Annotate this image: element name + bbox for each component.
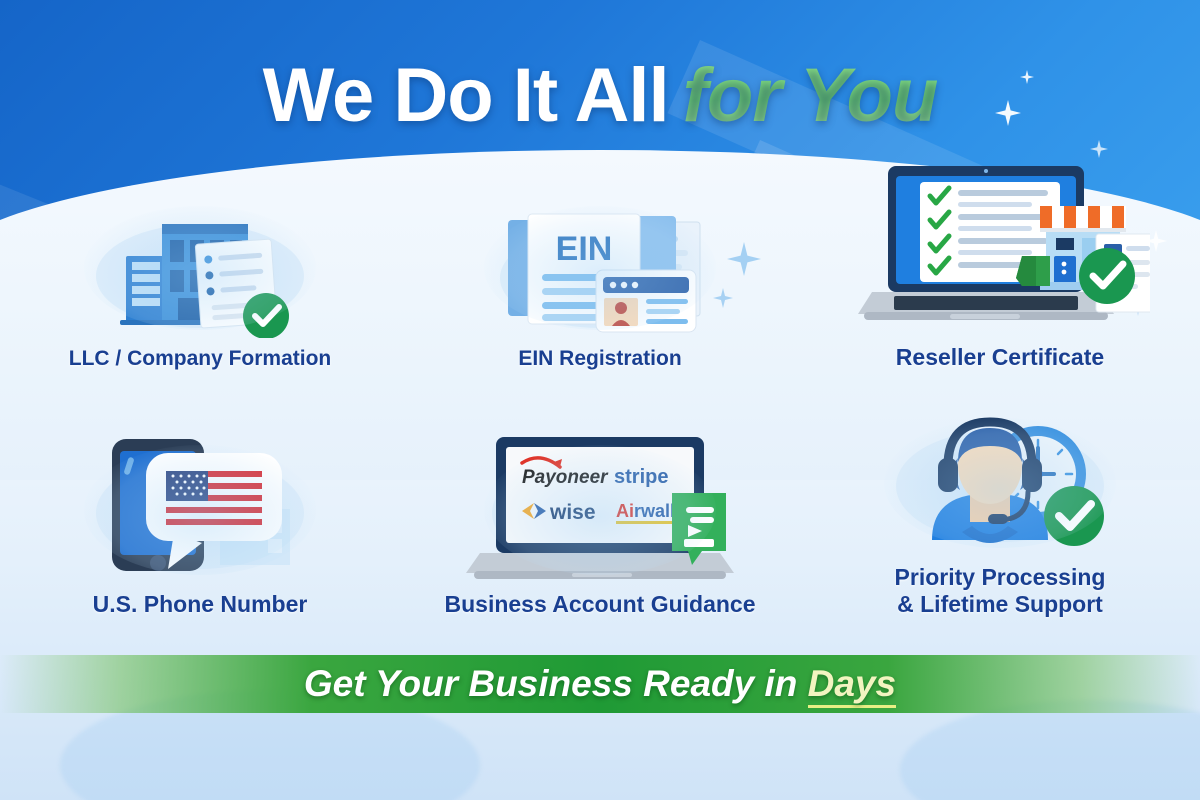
feature-label: Business Account Guidance	[445, 591, 756, 619]
icon-halo	[84, 206, 316, 330]
cta-text-before: Get Your Business Ready	[304, 663, 765, 704]
feature-label: LLC / Company Formation	[69, 346, 332, 371]
check-badge-icon	[1079, 248, 1135, 304]
smartphone-us-flag-bubble-icon	[70, 427, 330, 583]
headline-accent: for You	[683, 53, 938, 138]
support-agent-headset-clock-icon	[870, 400, 1130, 556]
feature-business-account-guidance[interactable]: Payoneer stripe wise Airwallex	[400, 400, 800, 619]
cta-banner-text: Get Your Business Ready in Days	[304, 663, 896, 705]
cta-text-in: in	[764, 663, 807, 704]
feature-label: EIN Registration	[518, 346, 681, 371]
icon-halo	[484, 445, 716, 575]
headline-main: We Do It All	[263, 53, 669, 138]
feature-label: Reseller Certificate	[896, 344, 1104, 372]
page-title: We Do It Allfor You	[0, 52, 1200, 139]
feature-label: U.S. Phone Number	[93, 591, 308, 619]
feature-row: U.S. Phone Number Payonee	[0, 400, 1200, 619]
feature-grid: LLC / Company Formation	[0, 196, 1200, 619]
feature-label: Priority Processing & Lifetime Support	[895, 564, 1106, 619]
feature-llc-company-formation[interactable]: LLC / Company Formation	[0, 196, 400, 372]
feature-label-line1: Priority Processing	[895, 564, 1106, 592]
office-building-checklist-icon	[70, 198, 330, 338]
feature-ein-registration[interactable]: EIN	[400, 196, 800, 372]
feature-row: LLC / Company Formation	[0, 196, 1200, 372]
feature-priority-processing-lifetime-support[interactable]: Priority Processing & Lifetime Support	[800, 400, 1200, 619]
icon-halo	[884, 418, 1116, 548]
ein-document-id-card-icon: EIN	[470, 198, 730, 338]
icon-halo	[484, 206, 716, 330]
feature-label-line2: & Lifetime Support	[895, 591, 1106, 619]
cta-banner: Get Your Business Ready in Days	[0, 655, 1200, 713]
sparkle-icon	[1090, 140, 1108, 158]
feature-reseller-certificate[interactable]: Reseller Certificate	[800, 196, 1200, 372]
promo-graphic: We Do It Allfor You	[0, 0, 1200, 800]
feature-us-phone-number[interactable]: U.S. Phone Number	[0, 400, 400, 619]
cta-text-emphasis: Days	[808, 663, 896, 708]
icon-halo	[84, 445, 316, 575]
laptop-checklist-storefront-icon	[870, 160, 1130, 330]
laptop-payment-logos-icon: Payoneer stripe wise Airwallex	[470, 427, 730, 583]
